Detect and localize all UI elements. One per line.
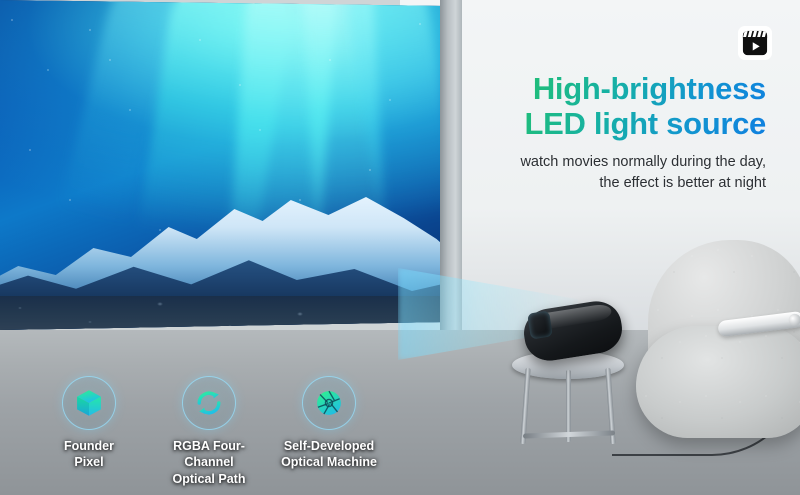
- feature-label-line-1: Self-Developed: [274, 438, 384, 455]
- feature-label-line-2: Optical Path: [154, 471, 264, 488]
- rocky-foreground: [0, 296, 445, 330]
- boucle-texture: [636, 326, 800, 438]
- feature-label-line-2: Optical Machine: [274, 454, 384, 471]
- projection-screen: [0, 0, 445, 330]
- feature-label: RGBA Four-Channel Optical Path: [154, 438, 264, 488]
- promo-banner: High-brightness LED light source watch m…: [0, 0, 800, 495]
- headline-line-1: High-brightness: [533, 71, 766, 106]
- feature-label-line-1: Founder: [34, 438, 144, 455]
- cube-icon: [72, 386, 106, 420]
- feature-icon-ring: [62, 376, 116, 430]
- feature-label-line-2: Pixel: [34, 454, 144, 471]
- projector-lens: [527, 310, 553, 339]
- subtitle: watch movies normally during the day, th…: [436, 152, 766, 193]
- aperture-icon: [312, 386, 346, 420]
- subtitle-line-1: watch movies normally during the day,: [436, 152, 766, 173]
- feature-item-self-developed-optical-machine: Self-Developed Optical Machine: [274, 376, 384, 488]
- subtitle-line-2: the effect is better at night: [436, 173, 766, 194]
- circular-arrows-icon: [192, 386, 226, 420]
- feature-label: Self-Developed Optical Machine: [274, 438, 384, 471]
- feature-list: Founder Pixel RGBA F: [34, 376, 384, 488]
- feature-item-rgba-optical-path: RGBA Four-Channel Optical Path: [154, 376, 264, 488]
- feature-item-founder-pixel: Founder Pixel: [34, 376, 144, 488]
- headline-block: High-brightness LED light source watch m…: [436, 72, 766, 194]
- clapperboard-play-icon: [738, 26, 772, 60]
- feature-icon-ring: [302, 376, 356, 430]
- feature-icon-ring: [182, 376, 236, 430]
- feature-label: Founder Pixel: [34, 438, 144, 471]
- armchair-seat: [636, 326, 800, 438]
- headline-line-2: LED light source: [436, 107, 766, 142]
- page-title: High-brightness LED light source: [436, 72, 766, 141]
- feature-label-line-1: RGBA Four-Channel: [154, 438, 264, 471]
